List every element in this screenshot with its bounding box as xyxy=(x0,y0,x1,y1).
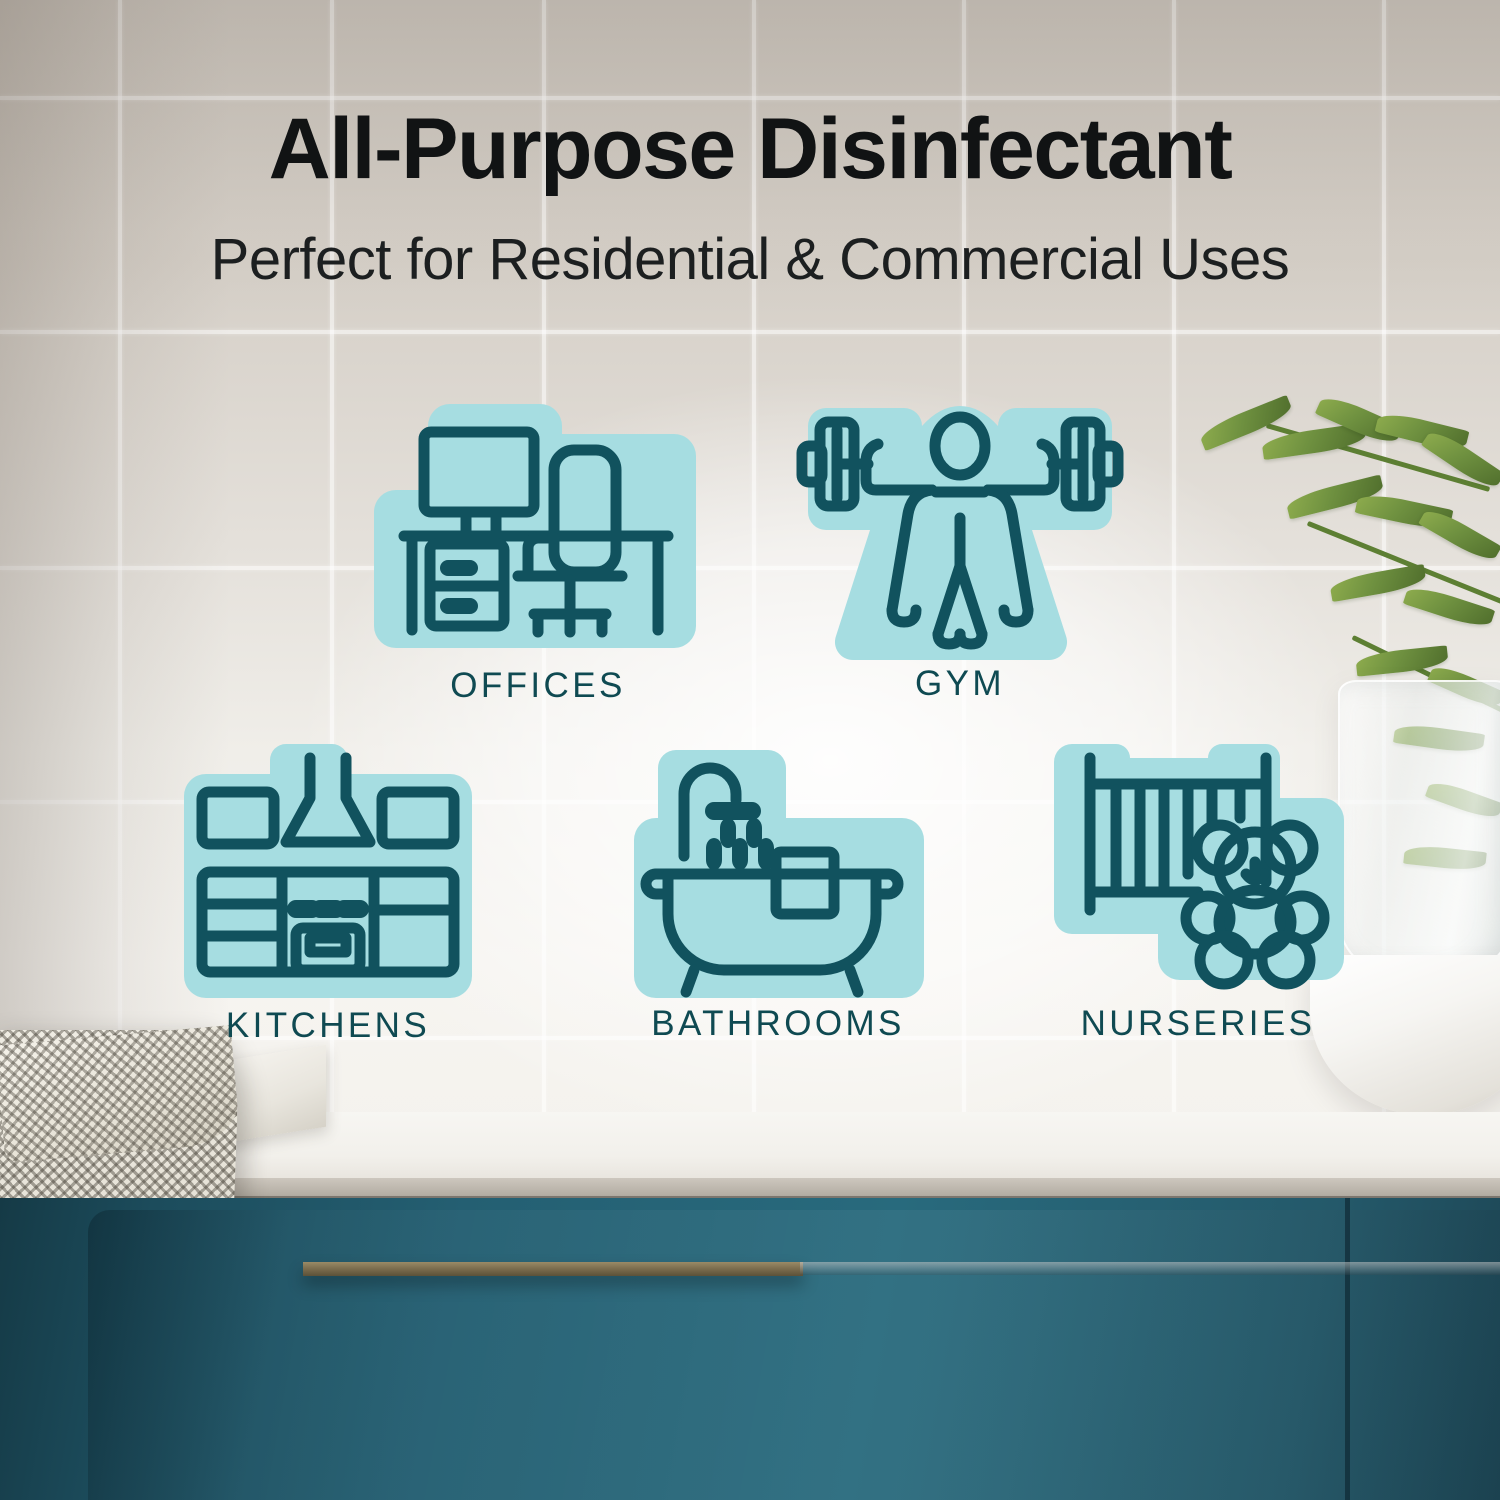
use-case-label-gym: GYM xyxy=(790,664,1130,704)
weightlifter-icon xyxy=(790,396,1130,658)
crib-teddy-bear-icon xyxy=(1048,722,1348,1002)
use-case-gym: GYM xyxy=(790,396,1130,658)
kitchen-cabinets-icon xyxy=(178,738,478,1000)
use-case-label-bathrooms: BATHROOMS xyxy=(608,1004,948,1044)
bathtub-shower-icon xyxy=(628,748,928,998)
cabinet-seam xyxy=(1345,1198,1350,1500)
glass-vase xyxy=(1338,680,1500,980)
use-case-kitchens: KITCHENS xyxy=(178,738,478,1000)
brass-bar-handle xyxy=(303,1262,803,1276)
office-desk-icon xyxy=(368,398,708,660)
use-case-bathrooms: BATHROOMS xyxy=(628,748,928,998)
brass-bar-handle xyxy=(800,1262,1500,1275)
use-case-nurseries: NURSERIES xyxy=(1048,722,1348,1002)
cabinet-drawer-face xyxy=(88,1210,1500,1500)
page-title: All-Purpose Disinfectant xyxy=(0,104,1500,194)
use-case-label-nurseries: NURSERIES xyxy=(1028,1004,1368,1044)
use-case-label-kitchens: KITCHENS xyxy=(158,1006,498,1046)
product-feature-graphic: All-Purpose Disinfectant Perfect for Res… xyxy=(0,0,1500,1500)
use-case-offices: OFFICES xyxy=(368,398,708,660)
use-case-label-offices: OFFICES xyxy=(368,666,708,706)
page-subtitle: Perfect for Residential & Commercial Use… xyxy=(0,228,1500,292)
